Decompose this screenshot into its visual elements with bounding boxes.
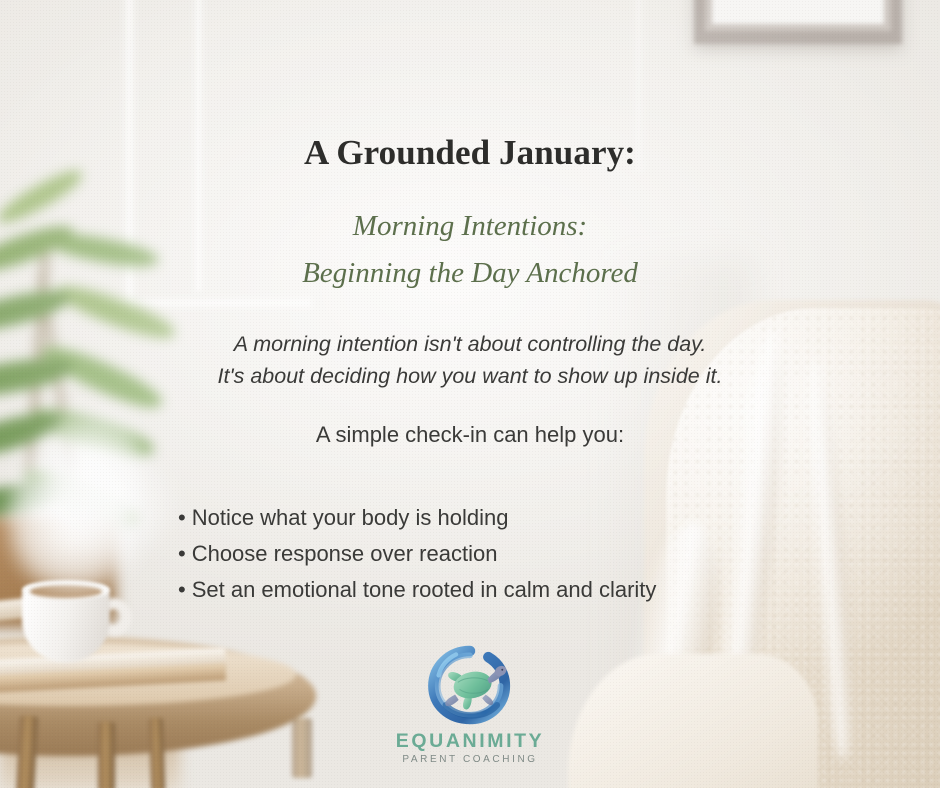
list-item-label: Set an emotional tone rooted in calm and… xyxy=(192,577,657,602)
logo-tagline: PARENT COACHING xyxy=(0,754,940,765)
lede-line-2: It's about deciding how you want to show… xyxy=(0,360,940,392)
subtitle-line-1: Morning Intentions: xyxy=(0,203,940,250)
list-item: •Notice what your body is holding xyxy=(178,500,656,536)
subtitle-line-2: Beginning the Day Anchored xyxy=(0,250,940,297)
prompt-text: A simple check-in can help you: xyxy=(0,422,940,448)
bullet-icon: • xyxy=(178,541,186,566)
page-title: A Grounded January: xyxy=(0,133,940,173)
checkin-list: •Notice what your body is holding •Choos… xyxy=(178,500,656,608)
list-item: •Choose response over reaction xyxy=(178,536,656,572)
social-post-graphic: A Grounded January: Morning Intentions: … xyxy=(0,0,940,788)
subtitle: Morning Intentions: Beginning the Day An… xyxy=(0,203,940,297)
bullet-icon: • xyxy=(178,505,186,530)
logo-wordmark: EQUANIMITY xyxy=(0,730,940,753)
lede-line-1: A morning intention isn't about controll… xyxy=(0,328,940,360)
bullet-icon: • xyxy=(178,577,186,602)
lede-paragraph: A morning intention isn't about controll… xyxy=(0,328,940,392)
poster-content: A Grounded January: Morning Intentions: … xyxy=(0,0,940,788)
list-item-label: Notice what your body is holding xyxy=(192,505,509,530)
brand-logo: EQUANIMITY PARENT COACHING xyxy=(0,644,940,765)
sea-turtle-in-watercolor-circle-icon xyxy=(426,644,514,726)
list-item: •Set an emotional tone rooted in calm an… xyxy=(178,572,656,608)
list-item-label: Choose response over reaction xyxy=(192,541,498,566)
